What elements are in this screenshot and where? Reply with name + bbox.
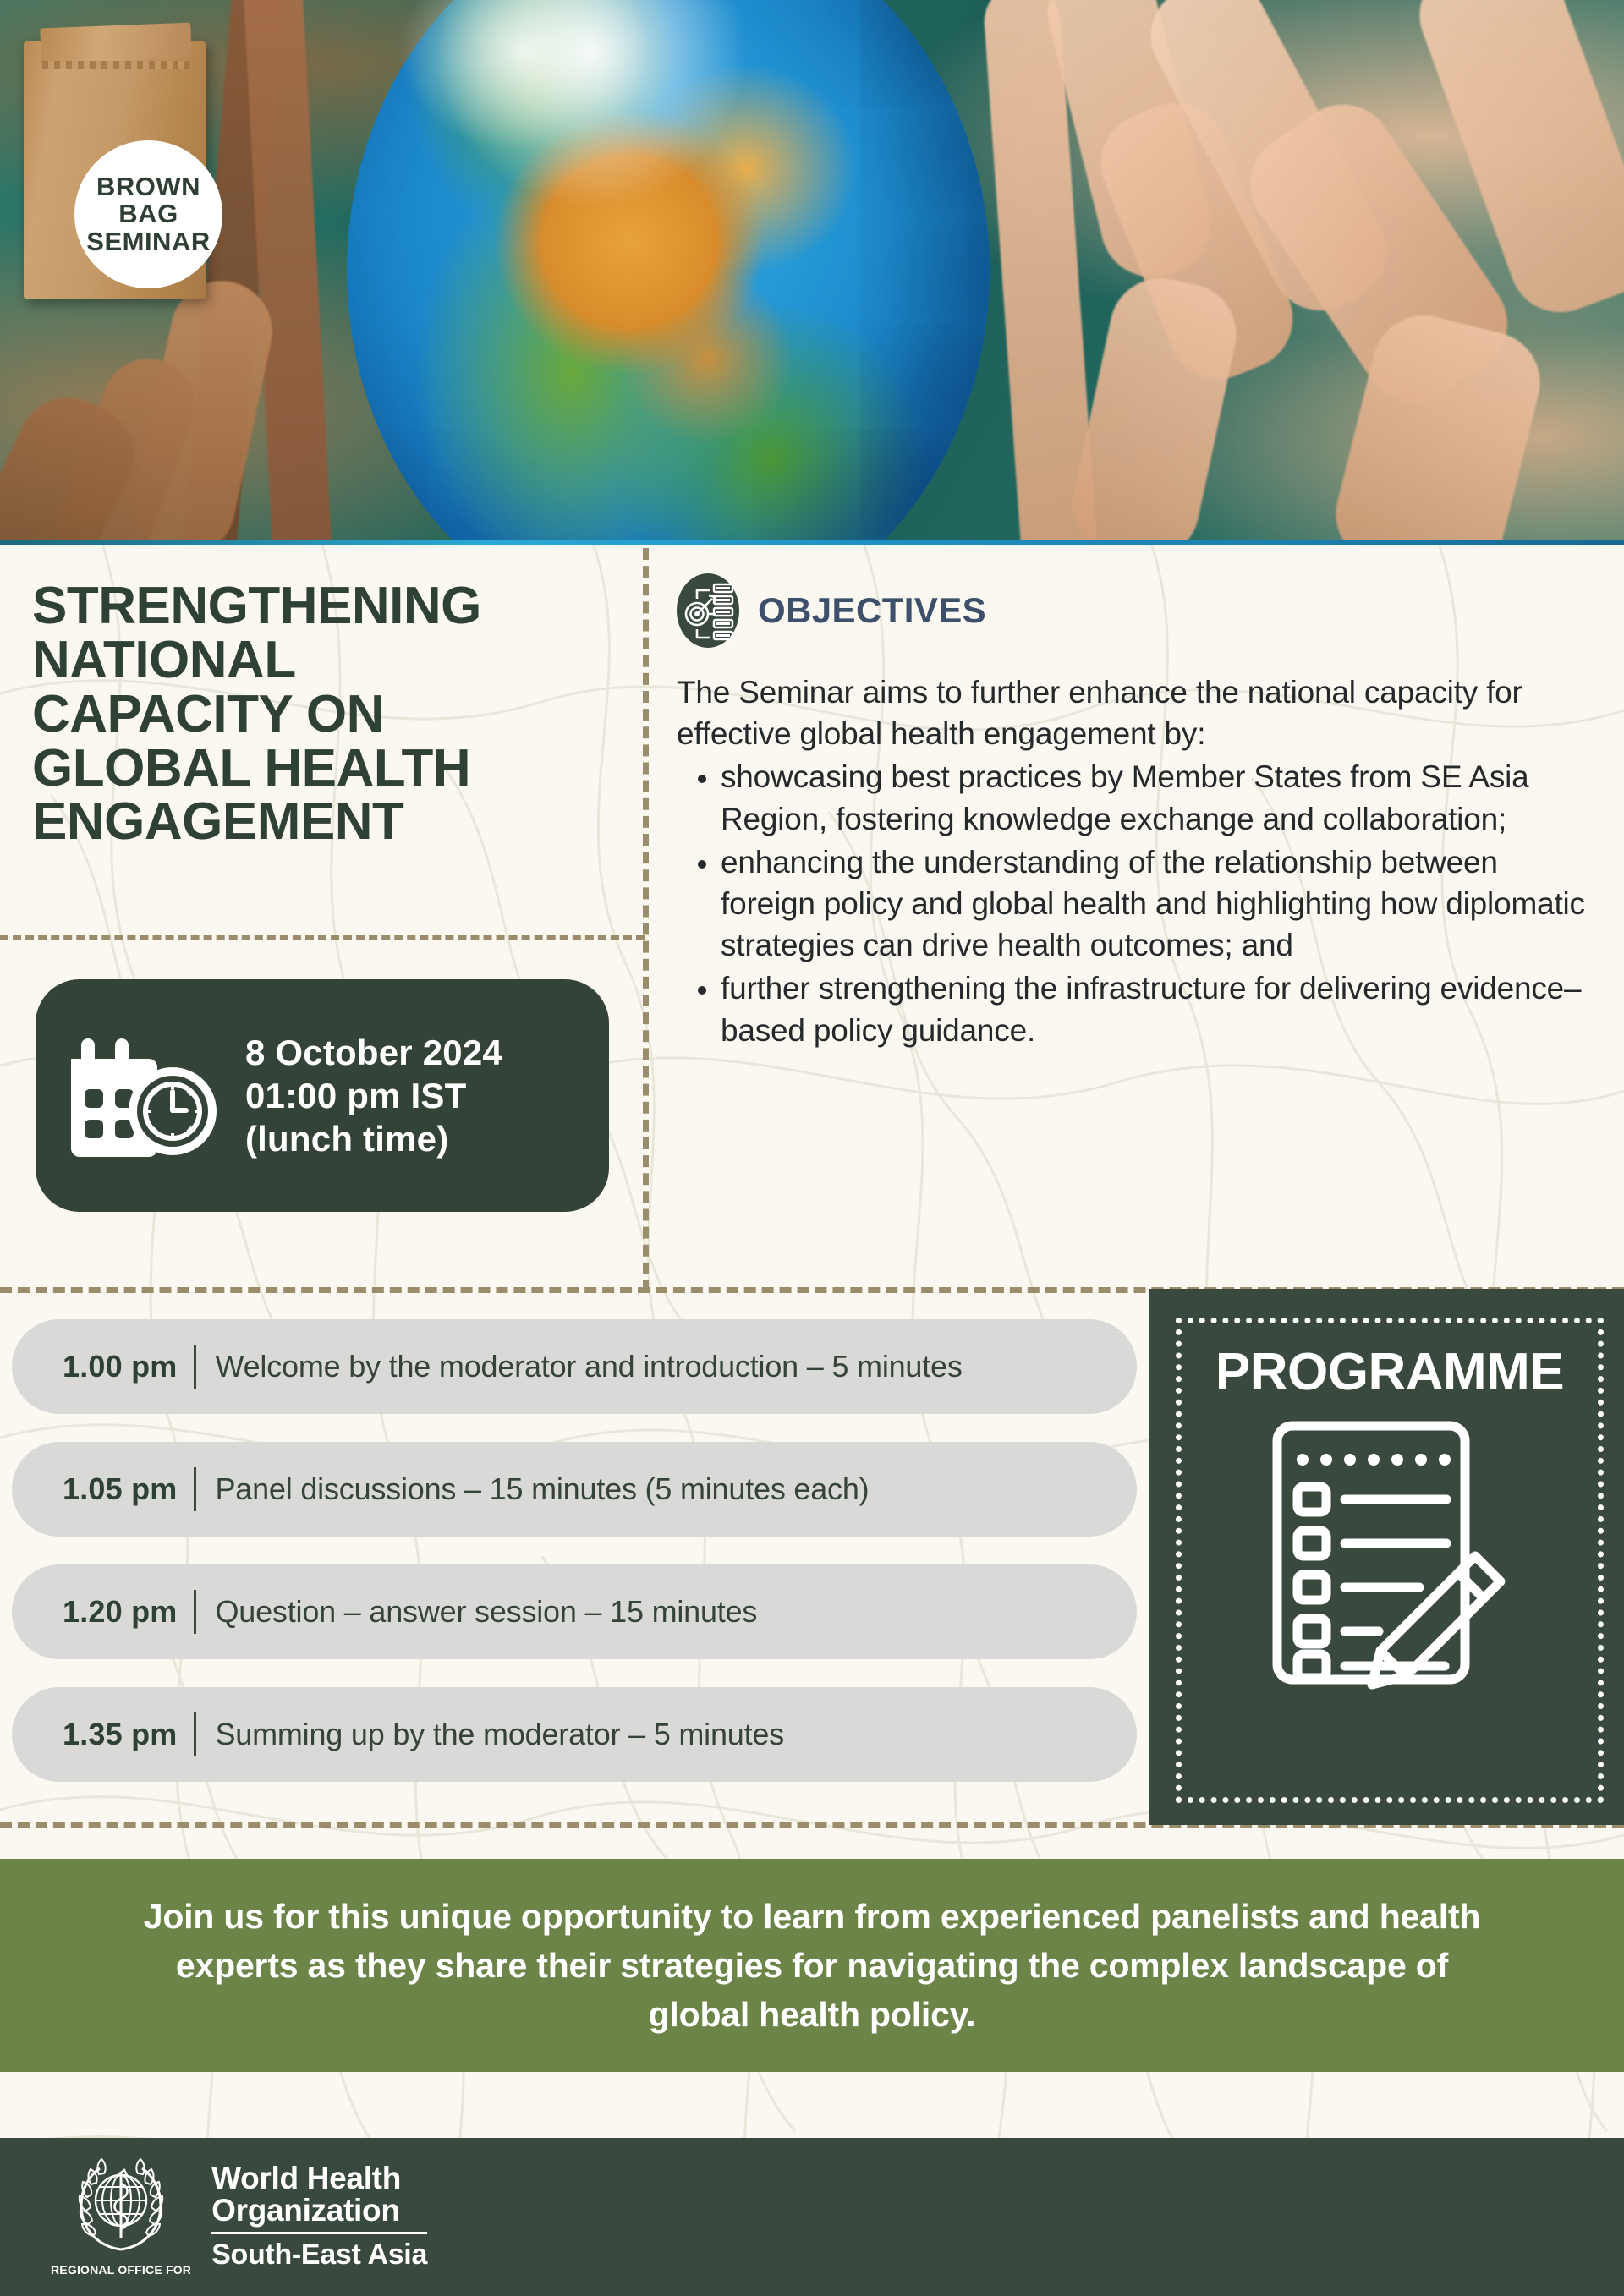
schedule-time: 1.05 pm [63,1471,177,1507]
schedule-description: Welcome by the moderator and introductio… [215,1349,962,1384]
page-title: STRENGTHENING NATIONAL CAPACITY ON GLOBA… [32,579,616,849]
schedule-separator [194,1345,196,1389]
objectives-section: OBJECTIVES The Seminar aims to further e… [677,573,1599,1053]
poster-root: BROWN BAG SEMINAR STRENGTHENING NATIONAL… [0,0,1624,2296]
brown-paper-bag: BROWN BAG SEMINAR [24,41,206,299]
objectives-item: showcasing best practices by Member Stat… [721,756,1599,839]
footer-bar: REGIONAL OFFICE FOR World Health Organiz… [0,2138,1624,2296]
badge-line-3: SEMINAR [86,228,210,255]
who-name-line1: World Health [211,2162,427,2195]
who-divider-rule [211,2232,427,2234]
bag-top-fold [40,23,191,64]
badge-line-2: BAG [118,200,178,227]
programme-heading: PROGRAMME [1215,1342,1564,1402]
schedule-row: 1.00 pm Welcome by the moderator and int… [12,1319,1137,1414]
badge-line-1: BROWN [96,173,200,200]
event-time-note: (lunch time) [245,1117,502,1160]
brown-bag-seminar-badge: BROWN BAG SEMINAR [74,140,222,288]
calendar-clock-icon [68,1033,222,1159]
objectives-item: enhancing the understanding of the relat… [721,841,1599,967]
event-time: 01:00 pm IST [245,1074,502,1117]
title-line-1: STRENGTHENING [32,577,481,635]
divider-horizontal-title [0,935,645,940]
clipboard-pencil-icon [1250,1412,1529,1708]
schedule-description: Question – answer session – 15 minutes [215,1594,757,1630]
objectives-heading: OBJECTIVES [758,590,986,631]
who-un-emblem-icon [71,2158,171,2258]
programme-panel-frame: PROGRAMME [1176,1318,1604,1803]
objectives-list: showcasing best practices by Member Stat… [677,756,1599,1050]
schedule-separator [194,1712,196,1756]
divider-vertical-main [643,548,649,1292]
date-time-box: 8 October 2024 01:00 pm IST (lunch time) [36,979,609,1212]
programme-schedule-list: 1.00 pm Welcome by the moderator and int… [12,1319,1137,1810]
event-date: 8 October 2024 [245,1031,502,1074]
schedule-separator [194,1590,196,1634]
who-emblem-group: REGIONAL OFFICE FOR [51,2158,191,2277]
schedule-time: 1.35 pm [63,1717,177,1752]
hero-image: BROWN BAG SEMINAR [0,0,1624,545]
schedule-time: 1.00 pm [63,1349,177,1384]
objectives-intro: The Seminar aims to further enhance the … [677,671,1599,754]
call-to-action-banner: Join us for this unique opportunity to l… [0,1859,1624,2072]
poster-title: STRENGTHENING NATIONAL CAPACITY ON GLOBA… [32,579,616,849]
schedule-row: 1.05 pm Panel discussions – 15 minutes (… [12,1442,1137,1537]
programme-panel: PROGRAMME [1149,1289,1624,1825]
schedule-row: 1.20 pm Question – answer session – 15 m… [12,1564,1137,1659]
title-line-5: ENGAGEMENT [32,792,403,851]
target-checklist-icon [677,573,739,648]
title-line-2: NATIONAL [32,631,296,689]
date-time-text: 8 October 2024 01:00 pm IST (lunch time) [245,1031,502,1161]
objectives-body: The Seminar aims to further enhance the … [677,671,1599,1051]
objectives-item: further strengthening the infrastructure… [721,967,1599,1050]
who-region-name: South-East Asia [211,2238,427,2271]
cta-text: Join us for this unique opportunity to l… [135,1892,1489,2040]
title-line-4: GLOBAL HEALTH [32,739,470,797]
regional-office-label: REGIONAL OFFICE FOR [51,2263,191,2277]
schedule-separator [194,1467,196,1511]
title-line-3: CAPACITY ON [32,685,384,743]
who-wordmark: World Health Organization South-East Asi… [211,2162,427,2271]
bag-crimp [42,61,191,69]
hero-bottom-edge [0,540,1624,545]
schedule-time: 1.20 pm [63,1594,177,1630]
who-name-line2: Organization [211,2195,427,2227]
objectives-header: OBJECTIVES [677,573,1599,648]
schedule-row: 1.35 pm Summing up by the moderator – 5 … [12,1687,1137,1782]
schedule-description: Panel discussions – 15 minutes (5 minute… [215,1471,869,1507]
schedule-description: Summing up by the moderator – 5 minutes [215,1717,784,1752]
